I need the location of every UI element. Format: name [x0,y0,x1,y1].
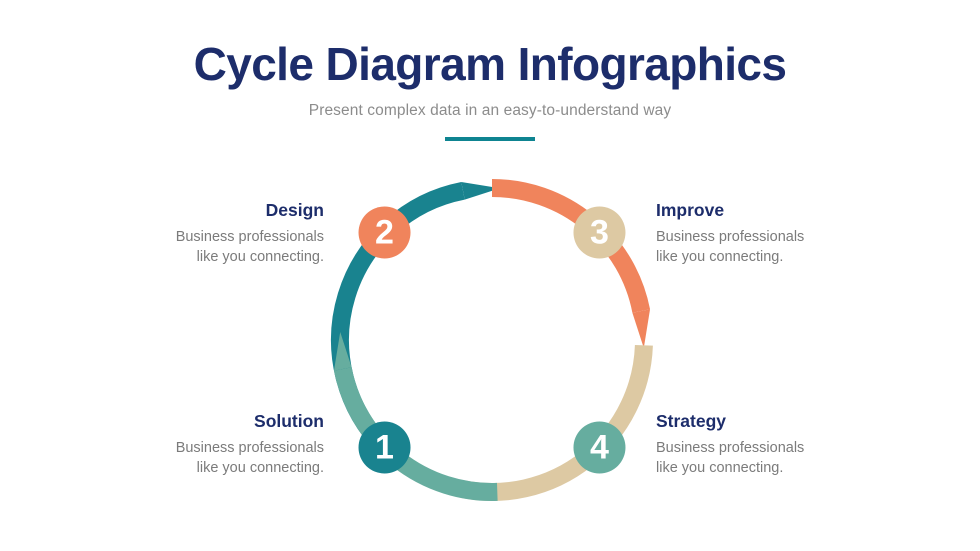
step-label-design: Design Business professionals like you c… [124,200,324,268]
step-label-improve: Improve Business professionals like you … [656,200,856,268]
step-description-line1: Business professionals [176,229,324,245]
step-label-strategy: Strategy Business professionals like you… [656,411,856,479]
step-title-design: Design [124,200,324,222]
step-description-line1: Business professionals [656,440,804,456]
step-description-line1: Business professionals [656,229,804,245]
cycle-badge-2[interactable]: 2 [359,207,411,259]
cycle-badge-number-4: 4 [590,428,609,466]
step-description-design: Business professionals like you connecti… [124,222,324,268]
cycle-badge-number-2: 2 [375,214,394,252]
step-label-solution: Solution Business professionals like you… [124,411,324,479]
step-description-improve: Business professionals like you connecti… [656,222,856,268]
cycle-badge-1[interactable]: 1 [359,421,411,473]
step-description-line1: Business professionals [176,440,324,456]
step-title-improve: Improve [656,200,856,222]
step-description-strategy: Business professionals like you connecti… [656,433,856,479]
step-description-solution: Business professionals like you connecti… [124,433,324,479]
step-title-solution: Solution [124,411,324,433]
step-description-line2: like you connecting. [656,249,783,265]
step-description-line2: like you connecting. [656,460,783,476]
cycle-arrow-2 [632,309,650,348]
cycle-arc-3 [463,345,644,492]
step-description-line2: like you connecting. [197,249,324,265]
cycle-badge-4[interactable]: 4 [573,421,625,473]
cycle-badge-3[interactable]: 3 [573,207,625,259]
step-description-line2: like you connecting. [197,460,324,476]
step-title-strategy: Strategy [656,411,856,433]
cycle-badge-number-1: 1 [375,428,394,466]
infographic-slide: Cycle Diagram Infographics Present compl… [0,0,980,551]
cycle-badge-number-3: 3 [590,214,609,252]
